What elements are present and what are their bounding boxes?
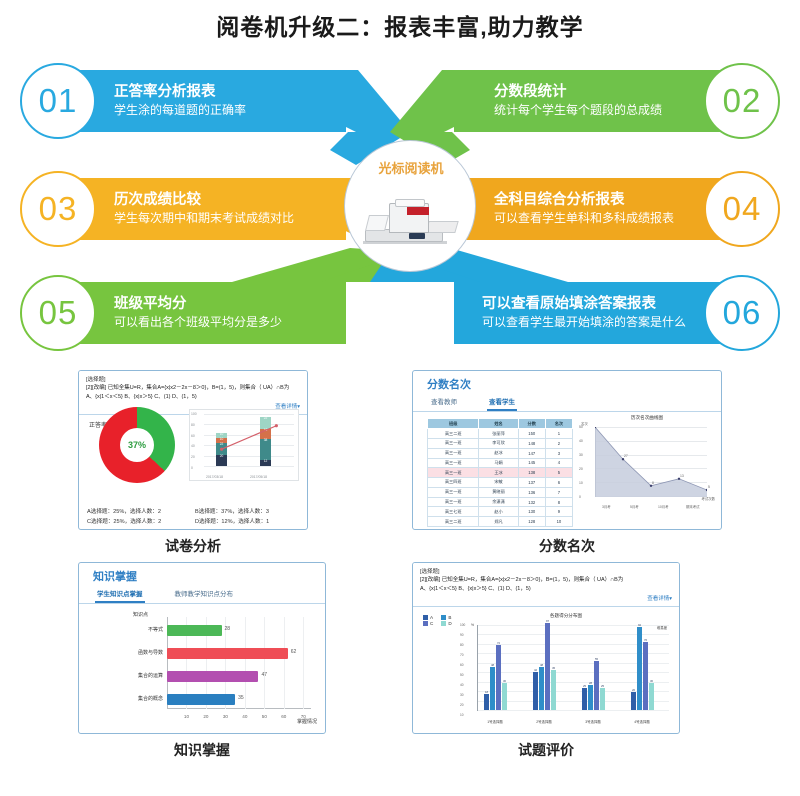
rank-col-header: 姓名 bbox=[479, 419, 518, 429]
option-stats-grid: A选择题：25%，选择人数：2 B选择题：37%，选择人数：3 C选择题：25%… bbox=[79, 507, 307, 525]
question-tag-4: [选择题] bbox=[420, 568, 672, 576]
panel-heading-knowledge: 知识掌握 bbox=[79, 563, 325, 586]
item-eval-ytick: 90 bbox=[460, 633, 464, 637]
panel-score-rank[interactable]: 分数名次 查看教师 查看学生 班级姓名分数名次 高三二班张丽萍1501高三一班李… bbox=[412, 370, 722, 530]
rank-table-body: 高三二班张丽萍1501高三一班李可欣1482高三一班赵冰1473高三一班马娟14… bbox=[428, 429, 573, 527]
feature-number-05: 05 bbox=[39, 294, 78, 332]
table-cell: 高三七班 bbox=[428, 507, 479, 517]
mini-chart-ytick: 20 bbox=[191, 455, 195, 459]
item-eval-chart-title: 各题得分分布图 bbox=[459, 613, 673, 619]
legend-swatch bbox=[441, 621, 446, 626]
legend-swatch bbox=[423, 615, 428, 620]
table-cell: 150 bbox=[518, 429, 545, 439]
question-options-4: A、{x|1＜x＜5} B、{x|x＞5} C、(1) D、(1，5) bbox=[420, 585, 672, 594]
table-cell: 高三一班 bbox=[428, 458, 479, 468]
knowledge-bar-row: 集合的概念35 bbox=[167, 694, 235, 705]
item-eval-ytick: 20 bbox=[460, 703, 464, 707]
area-chart-xtick: 5月考 bbox=[630, 504, 639, 509]
mini-chart-xtick: 2017/03/18 bbox=[206, 475, 223, 479]
item-eval-bar-group: 20927630 bbox=[631, 620, 654, 710]
item-eval-ytick: 60 bbox=[460, 663, 464, 667]
center-hub: 光标阅读机 bbox=[344, 140, 476, 272]
table-cell: 7 bbox=[545, 487, 572, 497]
table-cell: 赵冰 bbox=[479, 448, 518, 458]
table-cell: 高三一班 bbox=[428, 448, 479, 458]
table-cell: 张丽萍 bbox=[479, 429, 518, 439]
table-cell: 高三一班 bbox=[428, 487, 479, 497]
item-eval-bar: 55 bbox=[594, 661, 599, 711]
tabs-score-rank: 查看教师 查看学生 bbox=[413, 394, 721, 412]
accuracy-donut-chart: 37% bbox=[99, 407, 175, 483]
knowledge-bar-value: 62 bbox=[291, 649, 297, 655]
feature-badge-03: 03 bbox=[20, 171, 96, 247]
legend-swatch bbox=[441, 615, 446, 620]
table-cell: 4 bbox=[545, 458, 572, 468]
area-chart-series bbox=[595, 427, 707, 497]
table-cell: 高三二班 bbox=[428, 517, 479, 527]
caption-exam-analysis: 试卷分析 bbox=[78, 536, 308, 556]
rank-col-header: 班级 bbox=[428, 419, 479, 429]
omr-scanner-icon bbox=[363, 195, 459, 247]
question-options-1: A、{x|1＜x＜5} B、{x|x＞5} C、(1) D、(1，5) bbox=[86, 393, 300, 402]
feature-title-05: 班级平均分 bbox=[114, 295, 282, 313]
knowledge-axis-title: 知识点 bbox=[133, 611, 148, 618]
area-point-label: 8 bbox=[652, 481, 654, 485]
panel-item-eval[interactable]: [选择题] [2][改编] 已知全集U=R，集合A={x|x2－2x－8＞0}，… bbox=[412, 562, 680, 734]
item-eval-bar: 28 bbox=[588, 685, 593, 710]
table-cell: 10 bbox=[545, 517, 572, 527]
item-eval-xtick: 3号选择题 bbox=[585, 719, 600, 724]
item-eval-bar: 92 bbox=[637, 627, 642, 710]
knowledge-bar bbox=[167, 671, 258, 682]
legend-label: C bbox=[430, 621, 433, 626]
table-row[interactable]: 高三一班赵冰1473 bbox=[428, 448, 573, 458]
knowledge-bar bbox=[167, 648, 288, 659]
option-stat-b: B选择题：37%，选择人数：3 bbox=[195, 507, 299, 515]
feature-number-01: 01 bbox=[39, 82, 78, 120]
table-cell: 高三四班 bbox=[428, 478, 479, 488]
feature-badge-04: 04 bbox=[704, 171, 780, 247]
table-row[interactable]: 高三二班张丽萍1501 bbox=[428, 429, 573, 439]
question-stem-4: [2][改编] 已知全集U=R，集合A={x|x2－2x－8＞0}，B=(1，5… bbox=[420, 576, 672, 585]
area-chart-ytick: 10 bbox=[579, 481, 583, 485]
rank-col-header: 分数 bbox=[518, 419, 545, 429]
rank-table-header: 班级姓名分数名次 bbox=[428, 419, 573, 429]
table-cell: 1 bbox=[545, 429, 572, 439]
panel-knowledge[interactable]: 知识掌握 学生知识点掌握 教师教学知识点分布 知识点 不等式28函数与导数62集… bbox=[78, 562, 326, 734]
table-cell: 147 bbox=[518, 448, 545, 458]
feature-sub-06: 可以查看学生最开始填涂的答案是什么 bbox=[482, 314, 686, 330]
item-eval-bar: 76 bbox=[643, 642, 648, 710]
view-detail-link-4[interactable]: 查看详情▾ bbox=[420, 594, 672, 602]
knowledge-xtick: 50 bbox=[262, 714, 267, 719]
table-cell: 宋敏 bbox=[479, 478, 518, 488]
item-eval-bar: 45 bbox=[551, 670, 556, 711]
caption-item-eval: 试题评价 bbox=[412, 740, 680, 760]
feature-title-06: 可以查看原始填涂答案报表 bbox=[482, 295, 686, 313]
knowledge-xtick: 40 bbox=[242, 714, 247, 719]
knowledge-bar-label: 函数与导数 bbox=[138, 649, 163, 656]
feature-row-3: 05 班级平均分 可以看出各个班级平均分是多少 06 可以查看原始填涂答案报表 … bbox=[0, 282, 800, 344]
table-row[interactable]: 高三一班黄晓丽1367 bbox=[428, 487, 573, 497]
item-eval-ytick: 50 bbox=[460, 673, 464, 677]
area-chart-title: 历次名次曲线图 bbox=[579, 415, 715, 421]
area-chart-ylabel: 名次 bbox=[581, 421, 588, 426]
table-cell: 138 bbox=[518, 468, 545, 478]
item-eval-ytick: 100 bbox=[460, 623, 465, 627]
item-eval-bar: 25 bbox=[600, 688, 605, 711]
area-chart-ytick: 0 bbox=[579, 495, 581, 499]
table-cell: 145 bbox=[518, 458, 545, 468]
knowledge-bar-chart: 知识点 不等式28函数与导数62集合的运算47集合的概念35 102030405… bbox=[79, 609, 325, 727]
hub-label: 光标阅读机 bbox=[345, 158, 477, 177]
feature-card-03[interactable]: 03 历次成绩比较 学生每次期中和期末考试成绩对比 bbox=[58, 178, 346, 240]
knowledge-bar-label: 集合的概念 bbox=[138, 695, 163, 702]
table-cell: 王冰 bbox=[479, 468, 518, 478]
feature-text-04: 全科目综合分析报表 可以查看学生单科和多科成绩报表 bbox=[454, 191, 674, 226]
knowledge-bar bbox=[167, 625, 222, 636]
item-eval-bar-group: 18487230 bbox=[484, 620, 507, 710]
item-eval-ytick: 10 bbox=[460, 713, 464, 717]
table-cell: 148 bbox=[518, 438, 545, 448]
feature-sub-01: 学生涂的每道题的正确率 bbox=[114, 102, 246, 118]
knowledge-bar bbox=[167, 694, 235, 705]
mini-chart-trend-line bbox=[204, 414, 294, 467]
donut-center-label: 37% bbox=[120, 428, 154, 462]
area-chart-xtick: 10月考 bbox=[658, 504, 669, 509]
item-eval-bar: 48 bbox=[490, 667, 495, 710]
table-row[interactable]: 高三一班李可欣1482 bbox=[428, 438, 573, 448]
table-cell: 136 bbox=[518, 487, 545, 497]
item-eval-xtick: 2号选择题 bbox=[536, 719, 551, 724]
area-point-label: 5 bbox=[708, 485, 710, 489]
panel-heading-score-rank: 分数名次 bbox=[413, 371, 721, 394]
item-eval-bar: 25 bbox=[582, 688, 587, 711]
tabs-knowledge: 学生知识点掌握 教师教学知识点分布 bbox=[79, 586, 325, 604]
knowledge-xtick: 20 bbox=[203, 714, 208, 719]
table-cell: 高三一班 bbox=[428, 497, 479, 507]
mini-chart-ytick: 0 bbox=[191, 466, 193, 470]
feature-number-06: 06 bbox=[723, 294, 762, 332]
table-cell: 高三一班 bbox=[428, 438, 479, 448]
item-eval-bar: 48 bbox=[539, 667, 544, 710]
feature-sub-03: 学生每次期中和期末考试成绩对比 bbox=[114, 210, 294, 226]
option-stat-c: C选择题：25%，选择人数：2 bbox=[87, 517, 191, 525]
feature-row-1: 01 正答率分析报表 学生涂的每道题的正确率 02 分数段统计 统计每个学生每个… bbox=[0, 70, 800, 132]
feature-text-06: 可以查看原始填涂答案报表 可以查看学生最开始填涂的答案是什么 bbox=[454, 295, 686, 330]
table-cell: 130 bbox=[518, 507, 545, 517]
feature-card-05[interactable]: 05 班级平均分 可以看出各个班级平均分是多少 bbox=[58, 282, 346, 344]
table-row[interactable]: 高三一班王冰1385 bbox=[428, 468, 573, 478]
feature-title-02: 分数段统计 bbox=[494, 83, 662, 101]
page-title: 阅卷机升级二：报表丰富,助力教学 bbox=[0, 8, 800, 42]
feature-badge-05: 05 bbox=[20, 275, 96, 351]
item-eval-bar-group: 25285525 bbox=[582, 620, 605, 710]
item-eval-y-label: % bbox=[471, 623, 474, 627]
mini-chart-ytick: 80 bbox=[191, 423, 195, 427]
item-eval-bar: 97 bbox=[545, 623, 550, 710]
legend-swatch bbox=[423, 621, 428, 626]
feature-title-01: 正答率分析报表 bbox=[114, 83, 246, 101]
item-eval-ytick: 70 bbox=[460, 653, 464, 657]
table-cell: 马娟 bbox=[479, 458, 518, 468]
area-chart-ytick: 20 bbox=[579, 467, 583, 471]
table-cell: 9 bbox=[545, 507, 572, 517]
history-stacked-bar-chart: 1010222022183812 2017/03/182017/05/18 10… bbox=[189, 409, 299, 481]
table-cell: 郑凡 bbox=[479, 517, 518, 527]
rank-table-caption: 期末考试名次表 bbox=[427, 527, 573, 530]
caption-knowledge: 知识掌握 bbox=[78, 740, 326, 760]
knowledge-bar-row: 函数与导数62 bbox=[167, 648, 288, 659]
item-eval-legend: ABCD bbox=[423, 615, 452, 626]
legend-label: A bbox=[430, 615, 433, 620]
item-eval-bar: 30 bbox=[502, 683, 507, 710]
table-cell: 5 bbox=[545, 468, 572, 478]
table-cell: 高三二班 bbox=[428, 429, 479, 439]
table-cell: 6 bbox=[545, 478, 572, 488]
rank-col-header: 名次 bbox=[545, 419, 572, 429]
tab-student-knowledge[interactable]: 学生知识点掌握 bbox=[95, 586, 145, 603]
feature-card-04[interactable]: 04 全科目综合分析报表 可以查看学生单科和多科成绩报表 bbox=[454, 178, 742, 240]
panel-exam-analysis[interactable]: [选择题] [2][改编] 已知全集U=R，集合A={x|x2－2x－8＞0}，… bbox=[78, 370, 308, 530]
table-cell: 李可欣 bbox=[479, 438, 518, 448]
option-stat-d: D选择题：12%，选择人数：1 bbox=[195, 517, 299, 525]
table-cell: 黄晓丽 bbox=[479, 487, 518, 497]
feature-card-02[interactable]: 02 分数段统计 统计每个学生每个题段的总成绩 bbox=[454, 70, 742, 132]
area-chart-ytick: 30 bbox=[579, 453, 583, 457]
question-tag-1: [选择题] bbox=[86, 376, 300, 384]
area-point-label: 13 bbox=[680, 474, 684, 478]
table-cell: 高三一班 bbox=[428, 468, 479, 478]
tab-view-teacher[interactable]: 查看教师 bbox=[429, 394, 459, 411]
knowledge-xtick: 60 bbox=[281, 714, 286, 719]
infographic-page: 阅卷机升级二：报表丰富,助力教学 01 正答率分析报表 学生 bbox=[0, 0, 800, 796]
legend-label: B bbox=[448, 615, 451, 620]
mini-chart-xtick: 2017/05/18 bbox=[250, 475, 267, 479]
mini-chart-ytick: 40 bbox=[191, 444, 195, 448]
item-eval-bar-group: 42489745 bbox=[533, 620, 556, 710]
table-row[interactable]: 高三一班余潇潇1328 bbox=[428, 497, 573, 507]
knowledge-bar-row: 集合的运算47 bbox=[167, 671, 258, 682]
caption-score-rank: 分数名次 bbox=[412, 536, 722, 556]
item-eval-ytick: 40 bbox=[460, 683, 464, 687]
tab-view-student[interactable]: 查看学生 bbox=[487, 394, 517, 411]
legend-item: D bbox=[441, 621, 451, 626]
legend-item: B bbox=[441, 615, 451, 620]
item-eval-bar: 18 bbox=[484, 694, 489, 710]
item-eval-bar: 20 bbox=[631, 692, 636, 710]
feature-badge-01: 01 bbox=[20, 63, 96, 139]
knowledge-xtick: 30 bbox=[223, 714, 228, 719]
item-eval-bar-chart: 各题得分分布图 难易度 % 18487230424897452528552520… bbox=[459, 613, 673, 727]
area-point-label: 27 bbox=[624, 454, 628, 458]
knowledge-bar-label: 集合的运算 bbox=[138, 672, 163, 679]
area-chart-xtick: 3月考 bbox=[602, 504, 611, 509]
feature-card-06[interactable]: 06 可以查看原始填涂答案报表 可以查看学生最开始填涂的答案是什么 bbox=[454, 282, 742, 344]
item-eval-bar: 30 bbox=[649, 683, 654, 710]
table-cell: 132 bbox=[518, 497, 545, 507]
table-row[interactable]: 高三二班郑凡12810 bbox=[428, 517, 573, 527]
feature-number-02: 02 bbox=[723, 82, 762, 120]
table-cell: 2 bbox=[545, 438, 572, 448]
feature-title-03: 历次成绩比较 bbox=[114, 191, 294, 209]
item-eval-ytick: 30 bbox=[460, 693, 464, 697]
item-eval-xtick: 1号选择题 bbox=[487, 719, 502, 724]
table-cell: 137 bbox=[518, 478, 545, 488]
feature-title-04: 全科目综合分析报表 bbox=[494, 191, 674, 209]
area-chart-xtick: 期末考试 bbox=[686, 504, 700, 509]
feature-sub-05: 可以看出各个班级平均分是多少 bbox=[114, 314, 282, 330]
item-eval-bar: 42 bbox=[533, 672, 538, 710]
table-cell: 8 bbox=[545, 497, 572, 507]
mini-chart-ytick: 100 bbox=[191, 412, 197, 416]
item-eval-xtick: 4号选择题 bbox=[634, 719, 649, 724]
legend-item: A bbox=[423, 615, 433, 620]
feature-badge-06: 06 bbox=[704, 275, 780, 351]
knowledge-bar-row: 不等式28 bbox=[167, 625, 222, 636]
feature-number-03: 03 bbox=[39, 190, 78, 228]
area-chart-xlabel: 考试次数 bbox=[701, 496, 715, 501]
knowledge-bar-value: 28 bbox=[225, 626, 231, 632]
mini-chart-ytick: 60 bbox=[191, 434, 195, 438]
table-row[interactable]: 高三四班宋敏1376 bbox=[428, 478, 573, 488]
rank-history-area-chart: 历次名次曲线图 504030201002781353月考5月考10月考期末考试名… bbox=[579, 415, 715, 511]
knowledge-bar-label: 不等式 bbox=[148, 626, 163, 633]
feature-sub-02: 统计每个学生每个题段的总成绩 bbox=[494, 102, 662, 118]
question-stem-1: [2][改编] 已知全集U=R，集合A={x|x2－2x－8＞0}，B=(1，5… bbox=[86, 384, 300, 393]
knowledge-bar-value: 47 bbox=[261, 672, 267, 678]
feature-text-02: 分数段统计 统计每个学生每个题段的总成绩 bbox=[454, 83, 662, 118]
feature-number-04: 04 bbox=[723, 190, 762, 228]
table-cell: 128 bbox=[518, 517, 545, 527]
legend-label: D bbox=[448, 621, 451, 626]
feature-sub-04: 可以查看学生单科和多科成绩报表 bbox=[494, 210, 674, 226]
knowledge-bar-value: 35 bbox=[238, 695, 244, 701]
area-chart-ytick: 40 bbox=[579, 439, 583, 443]
table-row[interactable]: 高三一班马娟1454 bbox=[428, 458, 573, 468]
item-eval-ytick: 80 bbox=[460, 643, 464, 647]
table-cell: 赵小 bbox=[479, 507, 518, 517]
rank-table: 班级姓名分数名次 高三二班张丽萍1501高三一班李可欣1482高三一班赵冰147… bbox=[427, 418, 573, 527]
knowledge-xtick: 10 bbox=[184, 714, 189, 719]
table-row[interactable]: 高三七班赵小1309 bbox=[428, 507, 573, 517]
feature-card-01[interactable]: 01 正答率分析报表 学生涂的每道题的正确率 bbox=[58, 70, 346, 132]
feature-badge-02: 02 bbox=[704, 63, 780, 139]
knowledge-x-label: 掌握情况 bbox=[297, 718, 317, 725]
question-box-4: [选择题] [2][改编] 已知全集U=R，集合A={x|x2－2x－8＞0}，… bbox=[413, 563, 679, 607]
legend-item: C bbox=[423, 621, 433, 626]
item-eval-bar: 72 bbox=[496, 645, 501, 710]
table-cell: 3 bbox=[545, 448, 572, 458]
table-cell: 余潇潇 bbox=[479, 497, 518, 507]
option-stat-a: A选择题：25%，选择人数：2 bbox=[87, 507, 191, 515]
tab-teacher-knowledge[interactable]: 教师教学知识点分布 bbox=[173, 586, 236, 603]
